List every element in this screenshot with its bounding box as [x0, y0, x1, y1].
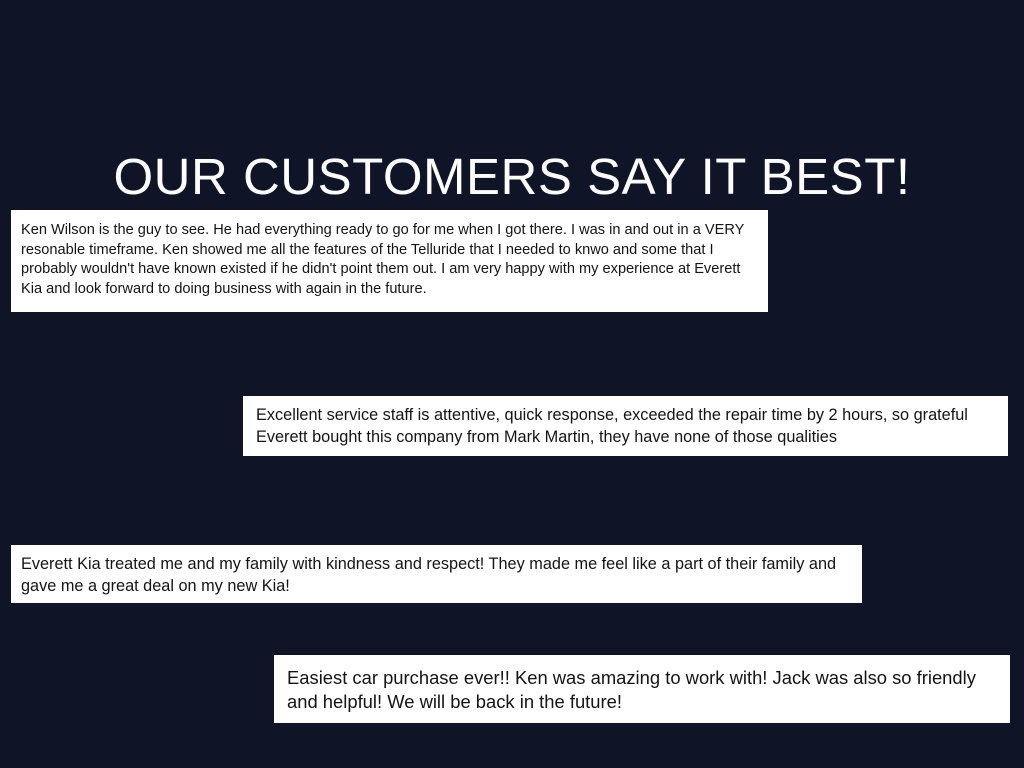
testimonial-text-3: Everett Kia treated me and my family wit…	[21, 554, 850, 597]
testimonial-card-2: Excellent service staff is attentive, qu…	[243, 396, 1008, 456]
testimonial-card-1: Ken Wilson is the guy to see. He had eve…	[11, 210, 768, 312]
page-title: OUR CUSTOMERS SAY IT BEST!	[0, 147, 1024, 207]
presentation-slide: OUR CUSTOMERS SAY IT BEST! Ken Wilson is…	[0, 0, 1024, 768]
testimonial-text-2: Excellent service staff is attentive, qu…	[256, 405, 995, 448]
testimonial-card-3: Everett Kia treated me and my family wit…	[11, 545, 862, 603]
testimonial-card-4: Easiest car purchase ever!! Ken was amaz…	[274, 655, 1010, 723]
testimonial-text-4: Easiest car purchase ever!! Ken was amaz…	[287, 666, 997, 714]
testimonial-text-1: Ken Wilson is the guy to see. He had eve…	[21, 221, 756, 299]
